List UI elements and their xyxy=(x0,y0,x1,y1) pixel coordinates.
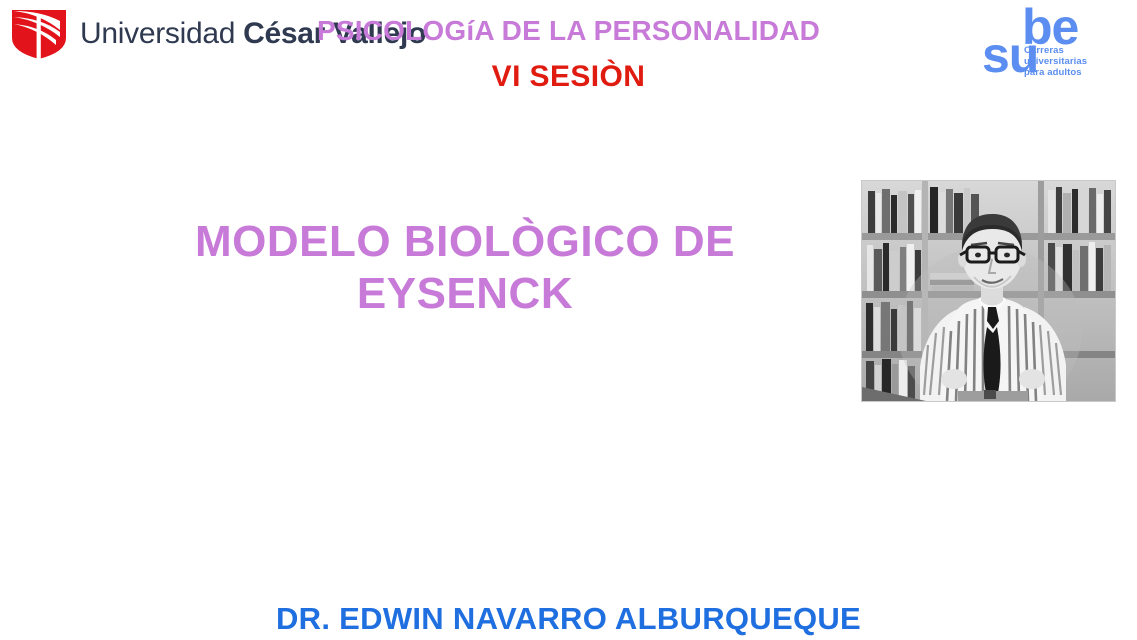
presenter-name: DR. EDWIN NAVARRO ALBURQUEQUE xyxy=(0,602,1137,636)
session-label: VI SESIÒN xyxy=(0,60,1137,93)
course-title: PSICOLOGíA DE LA PERSONALIDAD xyxy=(0,16,1137,47)
eysenck-portrait-photo xyxy=(861,180,1116,402)
slide-canvas: Universidad César Vallejo be su Carreras… xyxy=(0,0,1137,640)
slide-main-title: MODELO BIOLÒGICO DE EYSENCK xyxy=(130,216,800,320)
